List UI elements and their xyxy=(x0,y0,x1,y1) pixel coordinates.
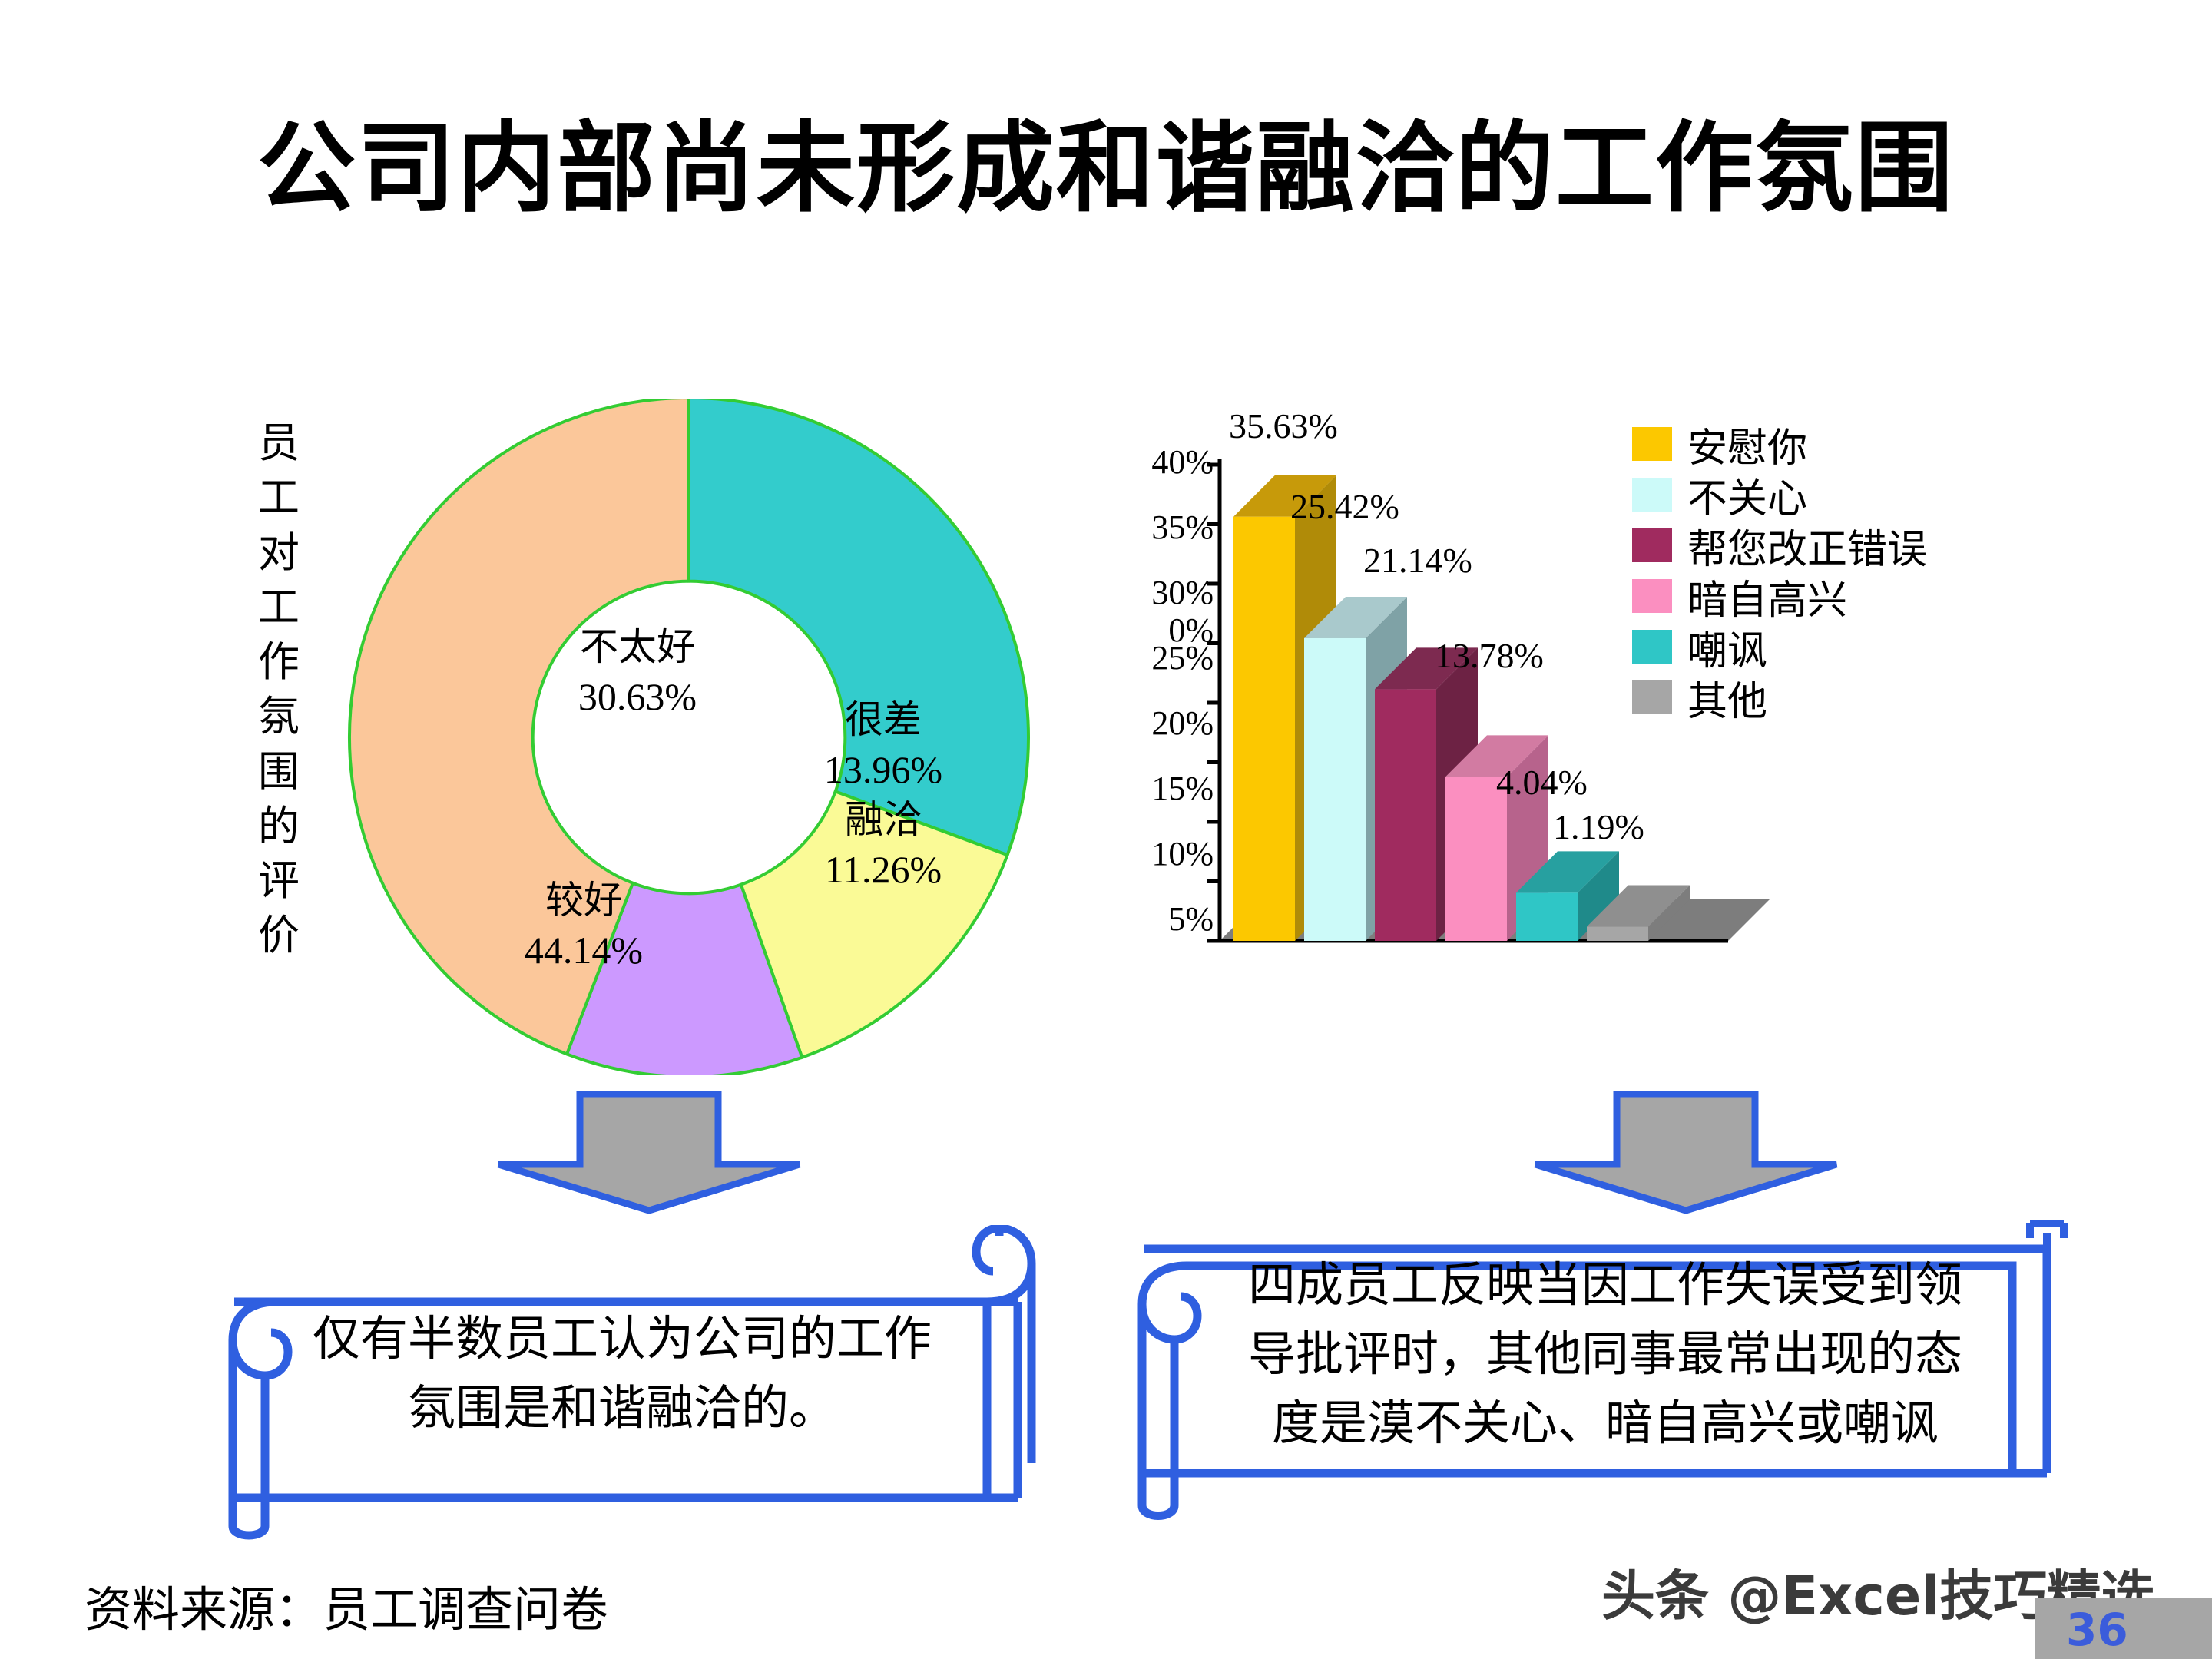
legend-swatch xyxy=(1632,680,1672,714)
legend-label: 安慰你 xyxy=(1687,416,1807,473)
donut-chart: 员 工 对 工 作 氛 围 的 评 价 不太好 30.63% 很差 13.96%… xyxy=(223,399,1083,1075)
legend-swatch xyxy=(1632,427,1672,461)
slice-name: 不太好 xyxy=(522,622,753,672)
slice-value: 30.63% xyxy=(522,672,753,722)
legend-swatch xyxy=(1632,630,1672,664)
donut-slice-label-rongqia: 融洽 11.26% xyxy=(787,795,979,895)
bar-legend: 安慰你 不关心 帮您改正错误 暗自高兴 嘲讽 其他 xyxy=(1632,419,1927,723)
bar-value-label: 4.04% xyxy=(1496,762,1588,803)
bar-value-label: 1.19% xyxy=(1553,806,1644,847)
callout-right-text: 四成员工反映当因工作失误受到领 导批评时，其他同事最常出现的态 度是漠不关心、暗… xyxy=(1183,1252,2028,1459)
legend-label: 其他 xyxy=(1687,669,1767,727)
slice-name: 较好 xyxy=(476,876,691,926)
callout-left-line: 仅有半数员工认为公司的工作 xyxy=(238,1306,1006,1375)
vlabel-char: 对 xyxy=(229,526,329,581)
source-note: 资料来源：员工调查问卷 xyxy=(84,1571,608,1640)
vlabel-char: 员 xyxy=(229,416,329,471)
vlabel-char: 工 xyxy=(229,471,329,525)
legend-item-anzigaoxing[interactable]: 暗自高兴 xyxy=(1632,571,1927,621)
legend-item-chaofeng[interactable]: 嘲讽 xyxy=(1632,621,1927,672)
donut-axis-label: 员 工 对 工 作 氛 围 的 评 价 xyxy=(229,416,329,964)
legend-label: 不关心 xyxy=(1687,466,1807,524)
page-title: 公司内部尚未形成和谐融洽的工作氛围 xyxy=(0,115,2212,224)
donut-slice-label-jiaohao: 较好 44.14% xyxy=(476,876,691,975)
bar-value-label: 13.78% xyxy=(1435,635,1544,676)
vlabel-char: 价 xyxy=(229,909,329,963)
callout-right-line: 导批评时，其他同事最常出现的态 xyxy=(1183,1321,2028,1390)
callout-left-line: 氛围是和谐融洽的。 xyxy=(238,1375,1006,1444)
bar-front xyxy=(1375,689,1436,941)
legend-swatch xyxy=(1632,478,1672,512)
vlabel-char: 评 xyxy=(229,854,329,909)
slice-name: 很差 xyxy=(791,695,975,745)
bar-chart: 0% 5% 10% 15% 20% 25% 30% 35% 40% 35.63%… xyxy=(1129,399,2143,1083)
slice-value: 44.14% xyxy=(476,926,691,975)
legend-swatch xyxy=(1632,579,1672,613)
vlabel-char: 的 xyxy=(229,800,329,854)
vlabel-char: 工 xyxy=(229,581,329,635)
bar-front xyxy=(1516,892,1578,941)
callout-right-line: 四成员工反映当因工作失误受到领 xyxy=(1183,1252,2028,1321)
legend-item-qita[interactable]: 其他 xyxy=(1632,672,1927,723)
legend-item-anweini[interactable]: 安慰你 xyxy=(1632,419,1927,469)
callout-left-text: 仅有半数员工认为公司的工作 氛围是和谐融洽的。 xyxy=(238,1306,1006,1444)
legend-item-bangningaizhengcuowu[interactable]: 帮您改正错误 xyxy=(1632,520,1927,571)
legend-item-buguanxin[interactable]: 不关心 xyxy=(1632,469,1927,520)
bar-front xyxy=(1304,638,1366,941)
vlabel-char: 围 xyxy=(229,745,329,800)
legend-label: 暗自高兴 xyxy=(1687,568,1847,625)
bar-value-label: 21.14% xyxy=(1363,540,1472,581)
slice-name: 融洽 xyxy=(787,795,979,845)
slide-canvas: 公司内部尚未形成和谐融洽的工作氛围 员 工 对 工 作 氛 围 的 评 价 不太… xyxy=(0,0,2212,1659)
legend-label: 帮您改正错误 xyxy=(1687,517,1927,575)
legend-swatch xyxy=(1632,528,1672,562)
donut-slice-label-butaihao: 不太好 30.63% xyxy=(522,622,753,722)
down-arrow-right xyxy=(1532,1091,1839,1214)
legend-label: 嘲讽 xyxy=(1687,618,1767,676)
donut-slice-label-hencha: 很差 13.96% xyxy=(791,695,975,795)
slice-value: 11.26% xyxy=(787,845,979,895)
down-arrow-left xyxy=(495,1091,803,1214)
vlabel-char: 作 xyxy=(229,635,329,690)
callout-right-line: 度是漠不关心、暗自高兴或嘲讽 xyxy=(1183,1390,2028,1459)
bar-value-label: 35.63% xyxy=(1229,406,1338,446)
page-number: 36 xyxy=(2066,1604,2128,1656)
slice-value: 13.96% xyxy=(791,745,975,795)
vlabel-char: 氛 xyxy=(229,690,329,744)
bar-front xyxy=(1587,927,1648,941)
bar-front xyxy=(1233,517,1295,941)
bar-value-label: 25.42% xyxy=(1290,486,1399,527)
